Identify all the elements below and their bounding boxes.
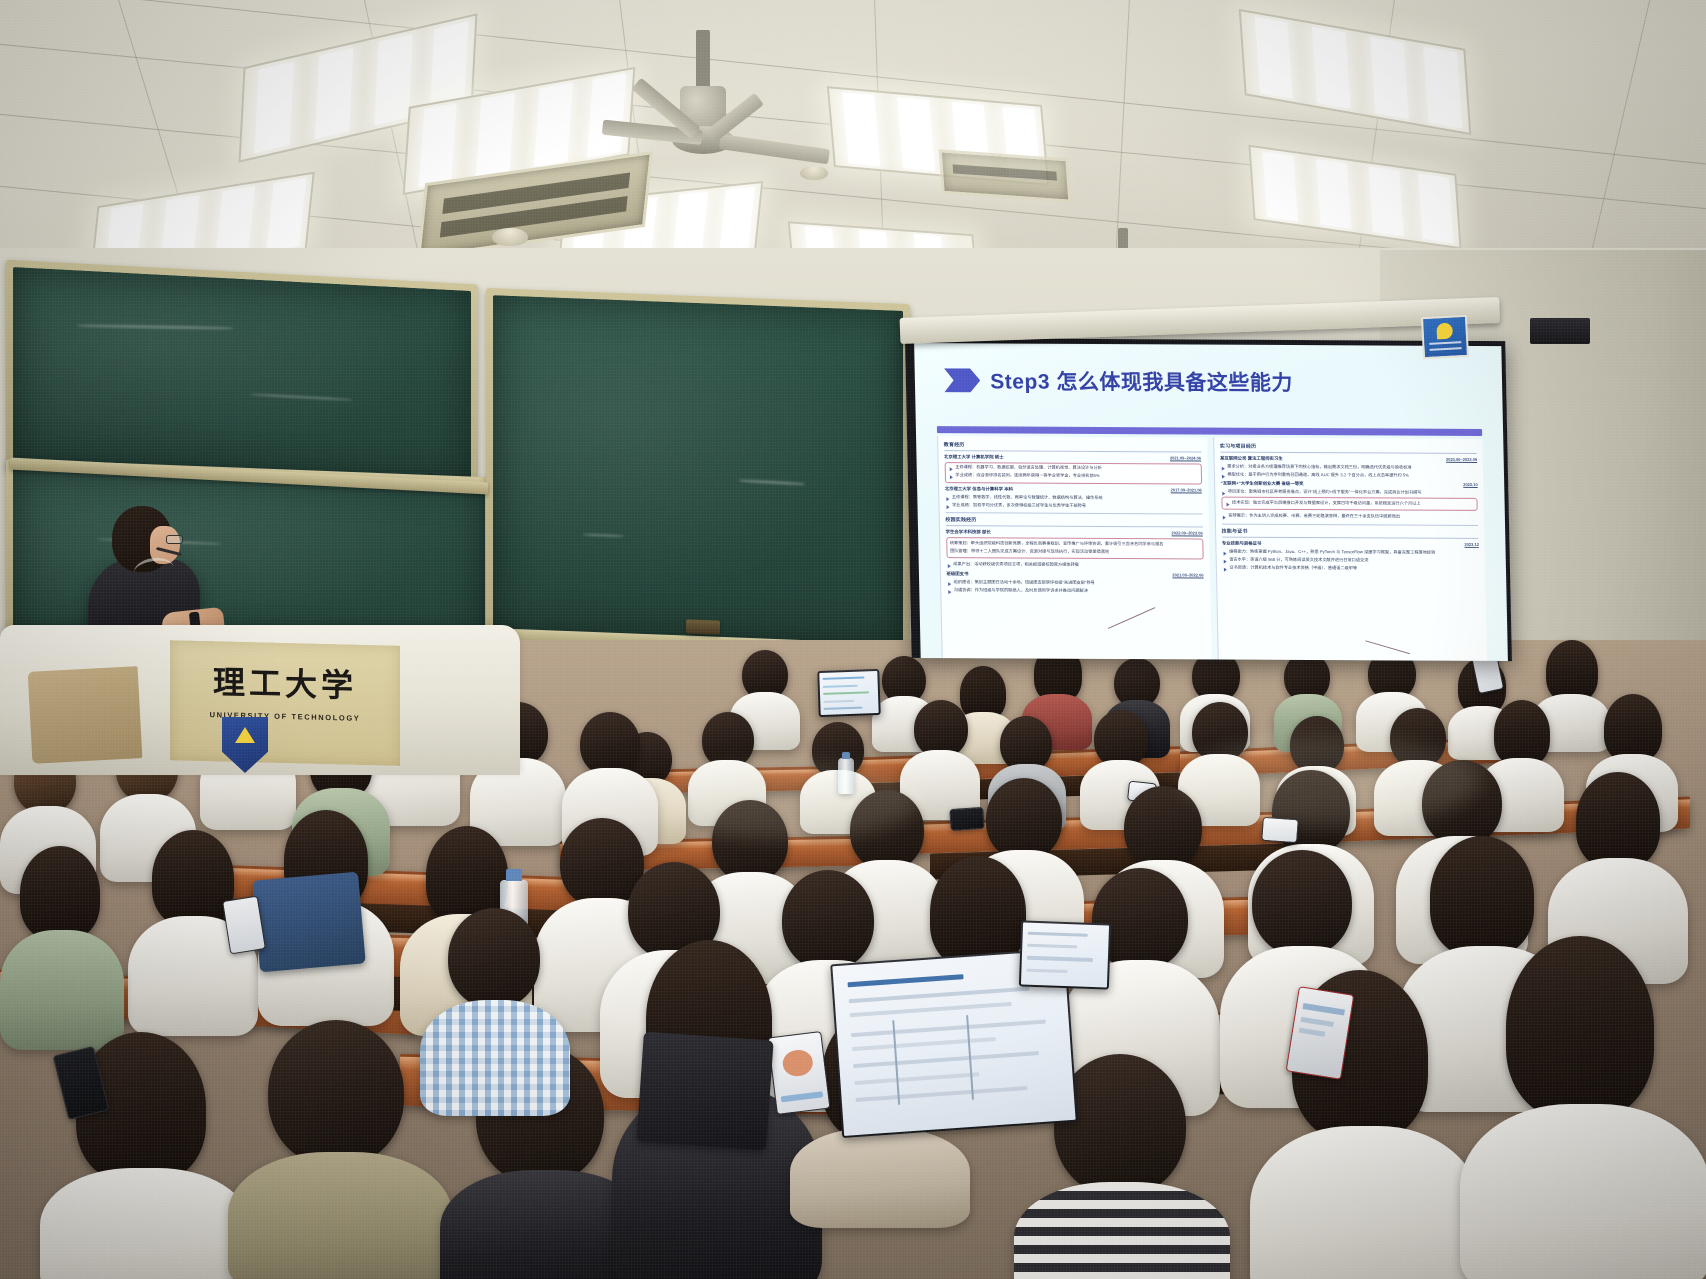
entry-org: 北京理工大学 计算机学院 硕士 [944,454,1004,460]
entry-bullet: 项目定位：聚焦城市社区养老服务痛点，设计“线上预约+线下服务”一体化平台方案，完… [1221,489,1478,497]
entry-date: 2023.06–2023.09 [1446,457,1477,462]
backpack[interactable] [636,1032,773,1151]
presentation-slide: Step3 怎么体现我具备这些能力 教育经历 北京理工大学 计算机学院 硕士 2… [914,343,1508,661]
university-name-chinese: 理工大学 [213,657,357,707]
entry-header: 北京理工大学 信息与计算科学 本科 2017.09–2021.06 [945,486,1202,493]
chalk-eraser[interactable] [686,619,720,634]
backpack[interactable] [252,872,366,973]
slide-accent-rule [936,427,1482,437]
annotation-mark [1108,607,1156,629]
open-laptop[interactable] [817,669,881,717]
smartphone[interactable] [767,1031,830,1115]
entry-bullet: 证书资质：计算机技术与软件专业技术资格（中级）、普通话二级甲等 [1222,565,1479,573]
podium: 理工大学 UNIVERSITY OF TECHNOLOGY [0,625,520,775]
divider [945,513,1202,515]
highlight-box: 主修课程：机器学习、数据挖掘、自然语言处理、计算机视觉、算法设计与分析 学业成绩… [944,462,1201,484]
entry-header: 学生会学术科技部 部长 2022.09–2023.06 [946,530,1203,537]
entry-date: 2022.10 [1463,482,1478,487]
entry-bullet: 团队管理：带领十二人团队完成方案设计、资源对接与现场执行，实现活动零差错落地 [950,548,1199,556]
entry-bullet: 主修课程：机器学习、数据挖掘、自然语言处理、计算机视觉、算法设计与分析 [948,465,1197,473]
emergency-exit-sign [1421,315,1469,359]
entry-bullet: 成果产出：活动获校级优秀项目立项，相关报道被校园官方媒体转载 [946,562,1203,570]
podium-nameplate: 理工大学 UNIVERSITY OF TECHNOLOGY [170,640,400,766]
entry-bullet: 组织建设：策划主题团日活动十余场，班级团支部获评校级“先进团支部”称号 [947,579,1204,587]
lecture-hall-photo: Step3 怎么体现我具备这些能力 教育经历 北京理工大学 计算机学院 硕士 2… [0,0,1706,1279]
entry-bullet: 技术实现：独立完成平台后端接口开发与数据库设计，支撑日均千级访问量，系统稳定运行… [1225,500,1474,508]
ceiling-ac-vent [939,149,1072,202]
seated-student [1460,936,1706,1279]
green-chalkboard [486,288,910,654]
entry-bullet: 学业成绩：加权平均分优秀，多次获得校级三好学生与优秀学生干部称号 [945,502,1202,510]
chevron-right-icon [944,368,981,392]
resume-right-column: 实习与项目经历 某互联网公司 算法工程师实习生 2023.06–2023.09 … [1213,438,1488,661]
highlight-box: 统筹策划：牵头组织院级科技创新竞赛，全程负责赛事规划、宣传推广与评审协调，累计吸… [946,538,1203,560]
entry-bullet: 编程能力：熟练掌握 Python、Java、C++，熟悉 PyTorch 与 T… [1222,549,1479,557]
entry-date: 2017.09–2021.06 [1171,487,1202,492]
entry-org: “互联网+”大学生创新创业大赛 省级一等奖 [1221,481,1304,487]
entry-bullet: 学业成绩：综合测评排名前列，连续两年获得一等学业奖学金，专业排名前5% [948,473,1197,481]
entry-bullet: 模型优化：基于用户行为序列重构召回通道，离线 AUC 提升 3.2 个百分点，线… [1220,472,1477,480]
section-heading: 实习与项目经历 [1220,443,1477,454]
entry-org: 北京理工大学 信息与计算科学 本科 [945,486,1013,492]
podium-side-panel [28,666,143,764]
entry-date: 2022.09–2023.06 [1171,531,1202,536]
entry-org: 班级团支书 [946,571,968,577]
slide-document-columns: 教育经历 北京理工大学 计算机学院 硕士 2021.09–2024.06 主修课… [937,436,1488,661]
seated-student [0,846,124,1044]
entry-org: 某互联网公司 算法工程师实习生 [1220,456,1283,462]
resume-left-column: 教育经历 北京理工大学 计算机学院 硕士 2021.09–2024.06 主修课… [937,436,1212,659]
green-chalkboard [6,260,478,495]
entry-bullet: 需求分析：对接业务方梳理推荐场景下的核心指标，输出需求文档三份，明确迭代优先级与… [1220,464,1477,472]
entry-header: 班级团支书 2021.09–2022.06 [946,571,1203,578]
smoke-detector-icon [492,228,528,246]
entry-date: 2021.09–2024.06 [1170,455,1201,460]
smoke-detector-icon [800,166,828,180]
seated-student [420,908,570,1108]
section-heading: 校园实践经历 [945,517,1202,528]
entry-date: 2023.12 [1464,542,1479,547]
projection-screen-controller[interactable] [1530,318,1590,344]
section-heading: 技能与证书 [1222,528,1479,539]
projection-screen: Step3 怎么体现我具备这些能力 教育经历 北京理工大学 计算机学院 硕士 2… [905,338,1512,661]
slide-title: Step3 怎么体现我具备这些能力 [990,365,1293,397]
entry-org: 学生会学术科技部 部长 [946,530,991,536]
entry-header: 某互联网公司 算法工程师实习生 2023.06–2023.09 [1220,456,1477,463]
exit-glyph [1436,323,1453,340]
seated-student [1250,970,1480,1279]
entry-bullet: 主修课程：高等数学、线性代数、概率论与数理统计、数据结构与算法、操作系统 [945,494,1202,502]
entry-bullet: 统筹策划：牵头组织院级科技创新竞赛，全程负责赛事规划、宣传推广与评审协调，累计吸… [950,540,1199,548]
divider [1221,524,1478,526]
entry-header: “互联网+”大学生创新创业大赛 省级一等奖 2022.10 [1221,481,1478,488]
slide-title-row: Step3 怎么体现我具备这些能力 [944,365,1293,397]
ceiling-fan [656,30,856,170]
seated-student [228,1020,452,1279]
highlight-box: 技术实现：独立完成平台后端接口开发与数据库设计，支撑日均千级访问量，系统稳定运行… [1221,497,1478,511]
entry-bullet: 答辩展示：作为主讲人完成校赛、市赛、省赛三轮路演答辩，最终在三十余支队伍中脱颖而… [1221,513,1478,521]
entry-header: 北京理工大学 计算机学院 硕士 2021.09–2024.06 [944,454,1201,461]
annotation-mark [1366,640,1411,654]
entry-date: 2021.09–2022.06 [1172,572,1203,577]
entry-bullet: 沟通协调：作为班级与学院的联络人，及时反馈同学诉求并推动问题解决 [947,587,1204,595]
open-laptop[interactable] [1019,920,1111,989]
entry-org: 专业技能与资格证书 [1222,541,1262,547]
eyeglasses-icon [166,535,183,544]
university-crest-icon [222,717,268,773]
entry-header: 专业技能与资格证书 2023.12 [1222,541,1479,548]
section-heading: 教育经历 [944,441,1201,452]
entry-bullet: 语言水平：英语六级 568 分，可熟练阅读英文技术文献并进行日常口语交流 [1222,557,1479,565]
